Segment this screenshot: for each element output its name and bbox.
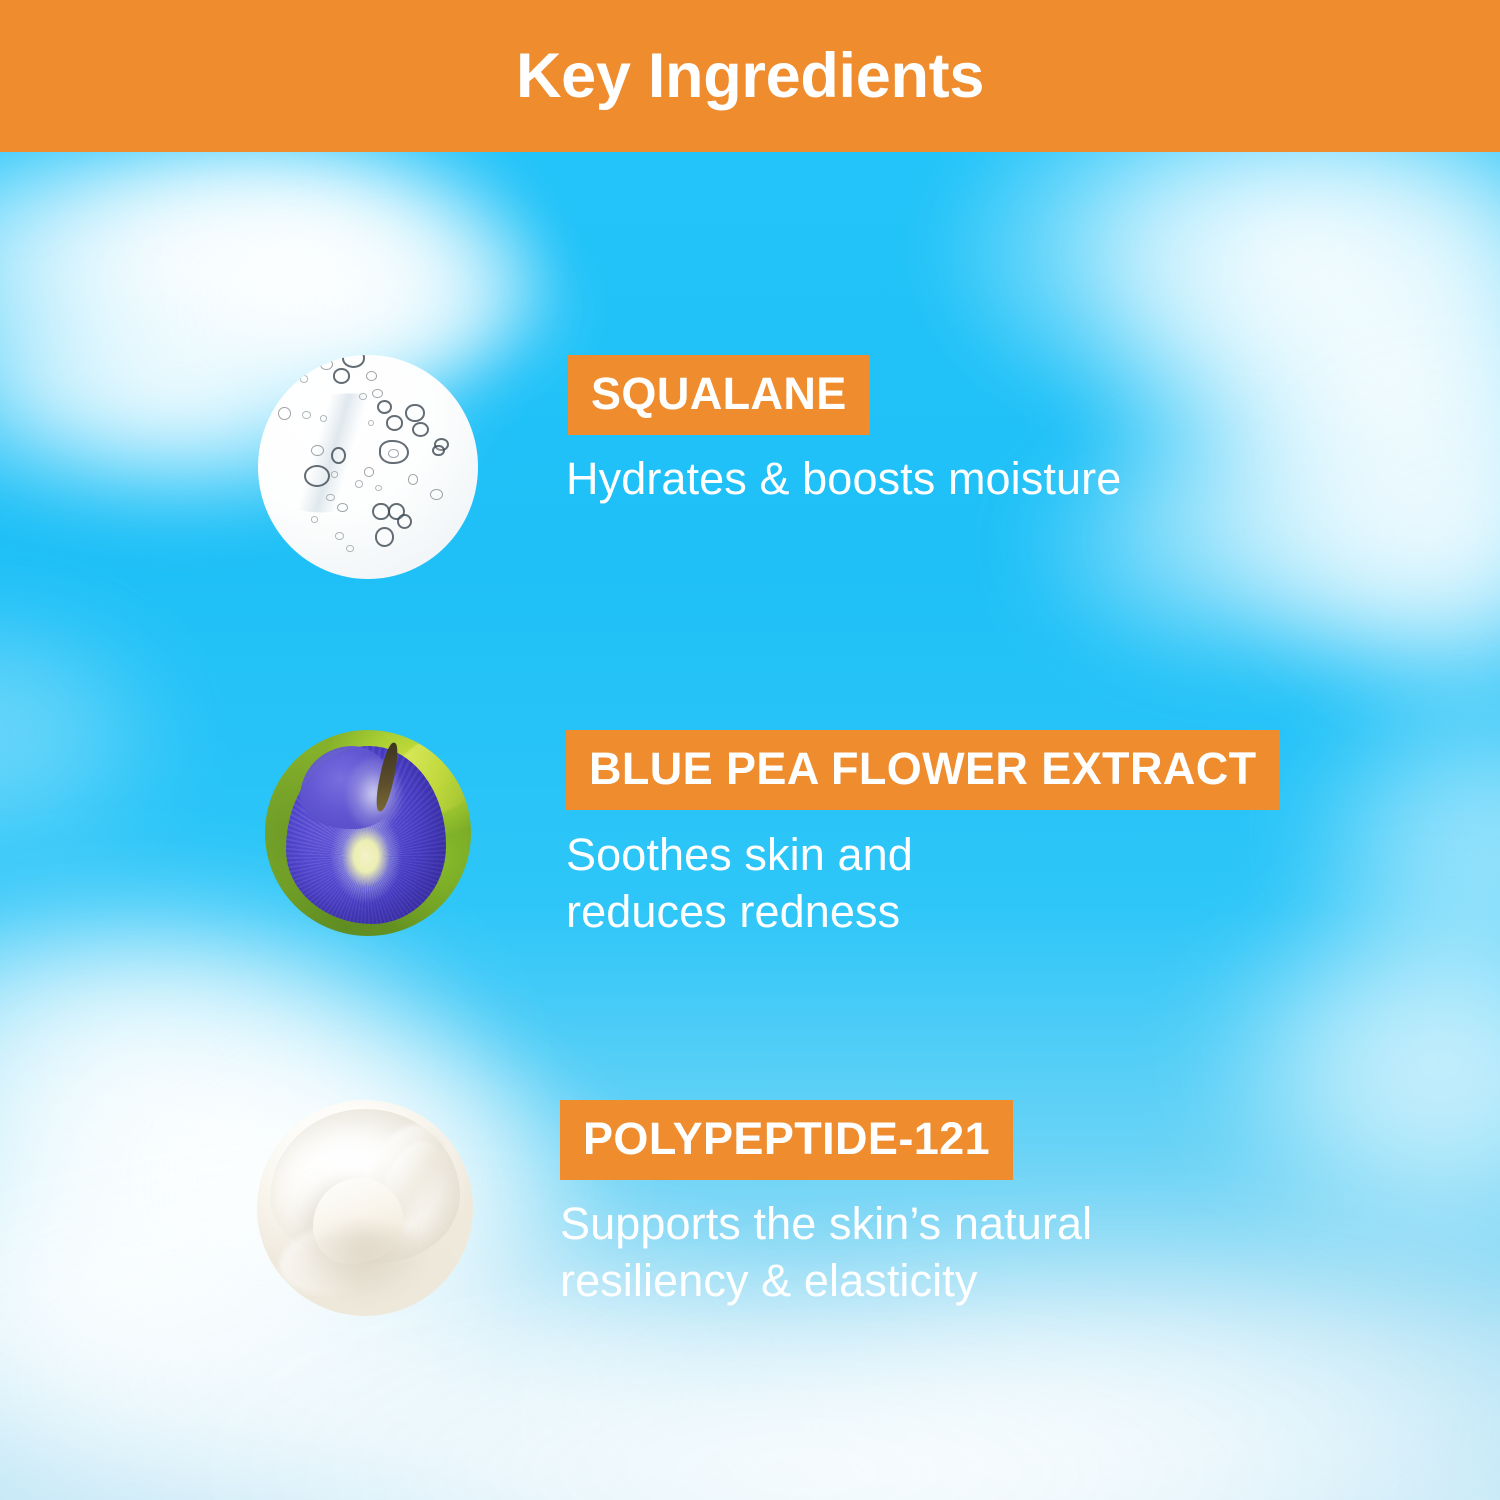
ingredient-item: SQUALANE Hydrates & boosts moisture <box>0 355 1121 579</box>
bubble-icon <box>366 371 377 381</box>
ingredient-item: POLYPEPTIDE-121 Supports the skin’s natu… <box>0 1100 1092 1316</box>
bubble-icon <box>388 449 399 458</box>
ingredient-description: Soothes skin and reduces redness <box>566 827 1280 940</box>
ingredient-name-badge: POLYPEPTIDE-121 <box>560 1100 1013 1180</box>
bubble-icon <box>342 355 366 368</box>
bubble-icon <box>375 527 394 547</box>
bubble-icon <box>346 545 354 551</box>
bubble-icon <box>364 467 375 477</box>
bubble-icon <box>331 447 346 464</box>
ingredient-text-block: BLUE PEA FLOWER EXTRACT Soothes skin and… <box>566 730 1280 940</box>
bubble-icon <box>408 474 419 485</box>
ingredients-list: SQUALANE Hydrates & boosts moisture BLUE… <box>0 152 1500 1500</box>
ingredient-description: Supports the skin’s natural resiliency &… <box>560 1196 1092 1309</box>
bubble-icon <box>405 404 424 421</box>
bubble-icon <box>337 503 348 512</box>
page-title: Key Ingredients <box>516 45 984 108</box>
bubble-icon <box>397 514 412 529</box>
bubble-icon <box>311 445 324 456</box>
ingredient-name-badge: SQUALANE <box>568 355 870 435</box>
blue-pea-flower-image <box>265 730 471 936</box>
bubble-icon <box>311 516 319 522</box>
bubble-icon <box>377 400 392 414</box>
bubble-icon <box>320 415 328 421</box>
bubble-icon <box>386 415 403 430</box>
ingredient-text-block: POLYPEPTIDE-121 Supports the skin’s natu… <box>560 1100 1092 1309</box>
ingredient-description: Hydrates & boosts moisture <box>566 451 1121 508</box>
bubble-icon <box>432 445 445 457</box>
bubble-icon <box>302 411 311 419</box>
ingredient-thumbnail-wrap <box>258 355 478 579</box>
bubble-icon <box>430 489 443 500</box>
bubble-icon <box>359 393 367 399</box>
bubble-icon <box>304 465 330 487</box>
ingredient-item: BLUE PEA FLOWER EXTRACT Soothes skin and… <box>0 730 1280 940</box>
bubble-icon <box>300 375 309 383</box>
header-bar: Key Ingredients <box>0 0 1500 152</box>
cream-swatch-image <box>257 1100 473 1316</box>
bubble-icon <box>335 532 344 540</box>
ingredient-thumbnail-wrap <box>257 1100 473 1316</box>
bubble-icon <box>372 389 383 399</box>
key-ingredients-infographic: Key Ingredients <box>0 0 1500 1500</box>
ingredient-name-badge: BLUE PEA FLOWER EXTRACT <box>566 730 1280 810</box>
ingredient-text-block: SQUALANE Hydrates & boosts moisture <box>566 355 1121 508</box>
ingredient-thumbnail-wrap <box>265 730 471 936</box>
bubble-icon <box>412 422 429 437</box>
bubble-icon <box>320 359 333 370</box>
bubble-icon <box>333 368 350 383</box>
bubble-icon <box>372 503 389 520</box>
squalane-gel-image <box>258 355 478 579</box>
bubble-icon <box>278 407 291 420</box>
bubble-icon <box>331 471 339 477</box>
